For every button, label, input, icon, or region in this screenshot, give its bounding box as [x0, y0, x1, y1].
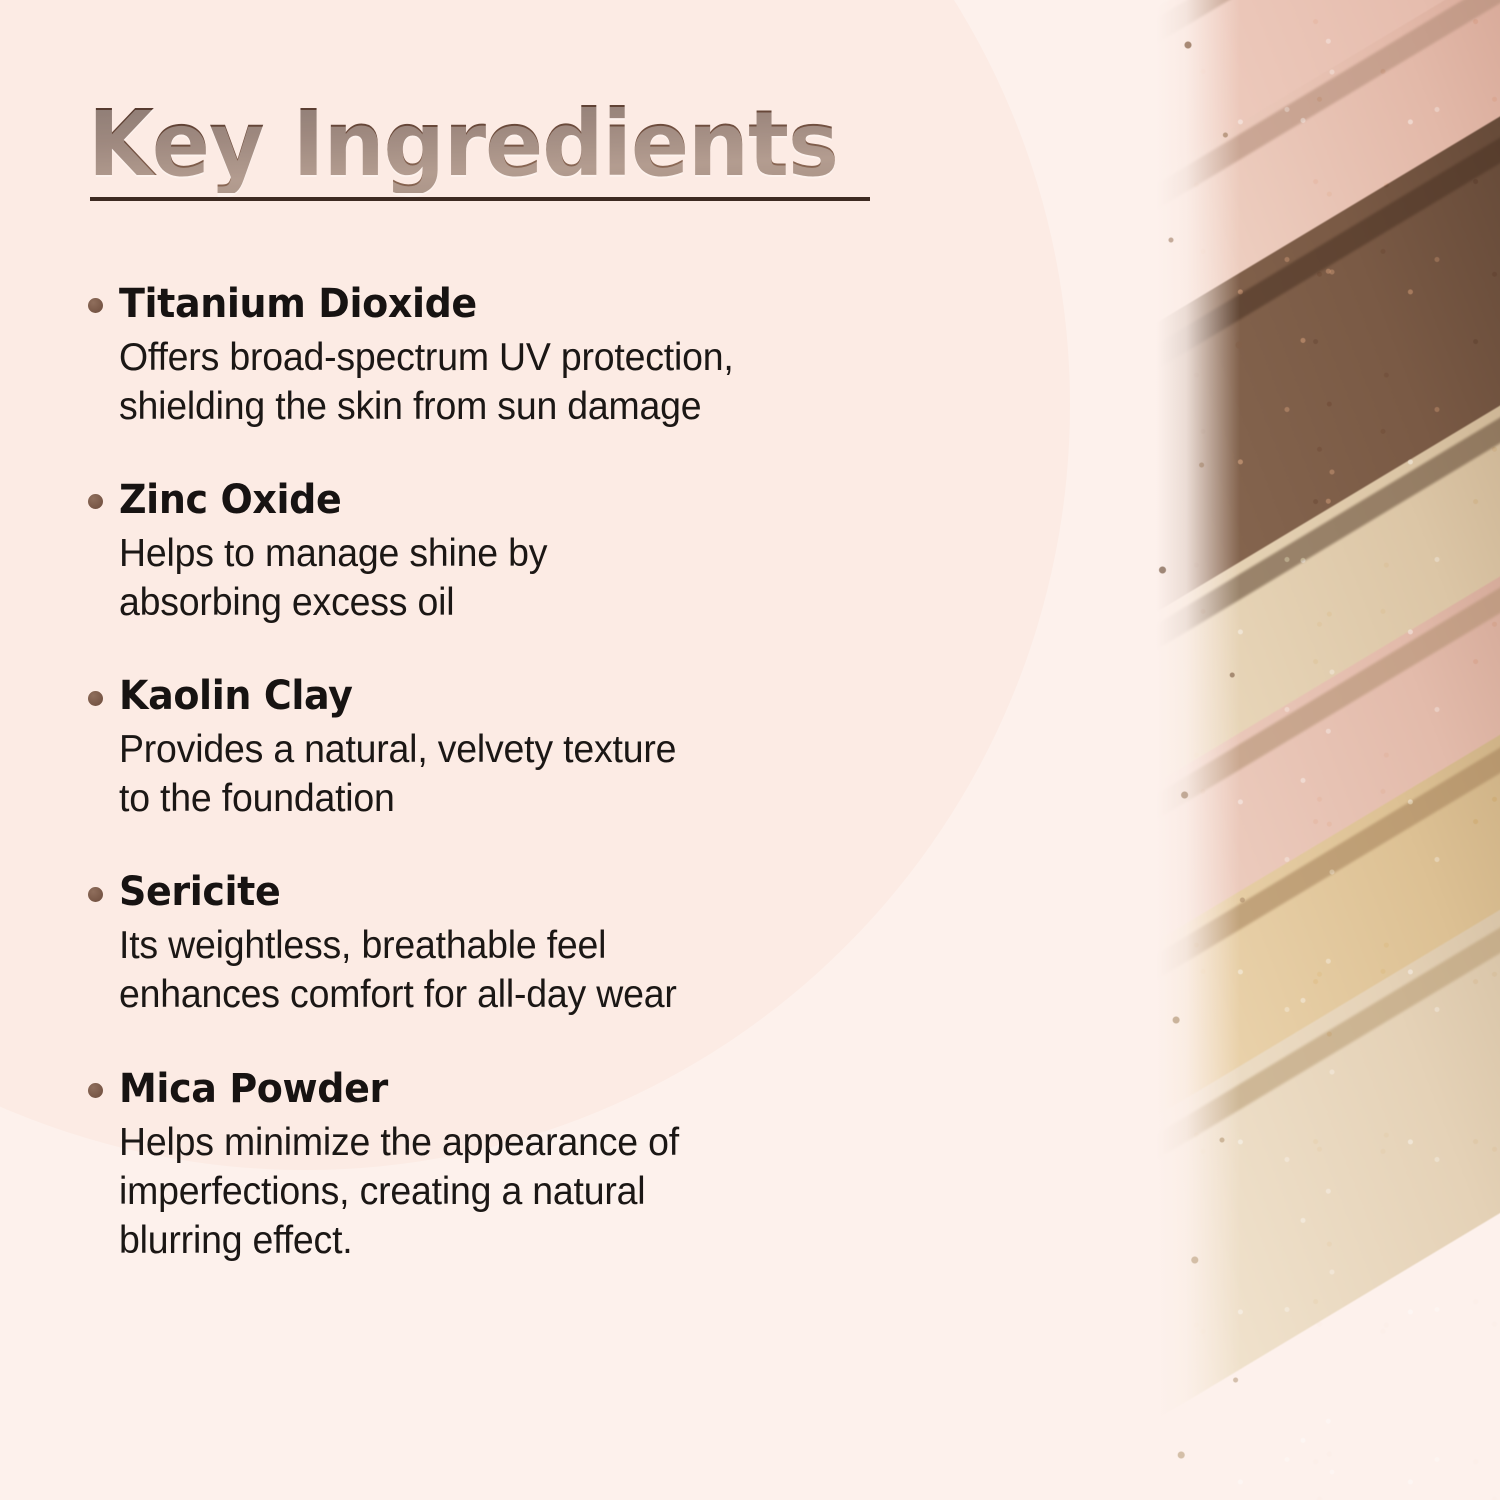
page-title: Key Ingredients: [88, 96, 838, 193]
list-item: Zinc Oxide Helps to manage shine by abso…: [88, 477, 1010, 627]
ingredient-name: Kaolin Clay: [119, 673, 353, 719]
ingredient-description: Helps minimize the appearance of imperfe…: [119, 1118, 974, 1265]
ingredient-description: Provides a natural, velvety texture to t…: [119, 725, 974, 823]
ingredient-heading: Kaolin Clay: [88, 673, 1010, 719]
powder-scattered-particles: [1120, 0, 1290, 1500]
ingredient-name: Zinc Oxide: [119, 477, 341, 523]
list-item: Titanium Dioxide Offers broad-spectrum U…: [88, 281, 1010, 431]
bullet-icon: [88, 887, 103, 902]
ingredient-heading: Zinc Oxide: [88, 477, 1010, 523]
list-item: Mica Powder Helps minimize the appearanc…: [88, 1066, 1010, 1265]
ingredient-heading: Sericite: [88, 869, 1010, 915]
title-underline: [90, 197, 870, 201]
list-item: Kaolin Clay Provides a natural, velvety …: [88, 673, 1010, 823]
ingredients-list: Titanium Dioxide Offers broad-spectrum U…: [88, 281, 1010, 1265]
ingredient-name: Titanium Dioxide: [119, 281, 477, 327]
ingredient-name: Mica Powder: [119, 1066, 388, 1112]
ingredient-name: Sericite: [119, 869, 280, 915]
bullet-icon: [88, 691, 103, 706]
page-title-wrap: Key Ingredients: [88, 96, 894, 207]
ingredient-description: Its weightless, breathable feel enhances…: [119, 921, 974, 1019]
ingredient-description: Helps to manage shine by absorbing exces…: [119, 529, 974, 627]
ingredient-heading: Mica Powder: [88, 1066, 1010, 1112]
content-column: Key Ingredients Titanium Dioxide Offers …: [0, 0, 1010, 1500]
bullet-icon: [88, 298, 103, 313]
bullet-icon: [88, 494, 103, 509]
list-item: Sericite Its weightless, breathable feel…: [88, 869, 1010, 1019]
bullet-icon: [88, 1083, 103, 1098]
powder-swatch-image: [1120, 0, 1500, 1500]
ingredient-heading: Titanium Dioxide: [88, 281, 1010, 327]
ingredient-description: Offers broad-spectrum UV protection, shi…: [119, 333, 974, 431]
